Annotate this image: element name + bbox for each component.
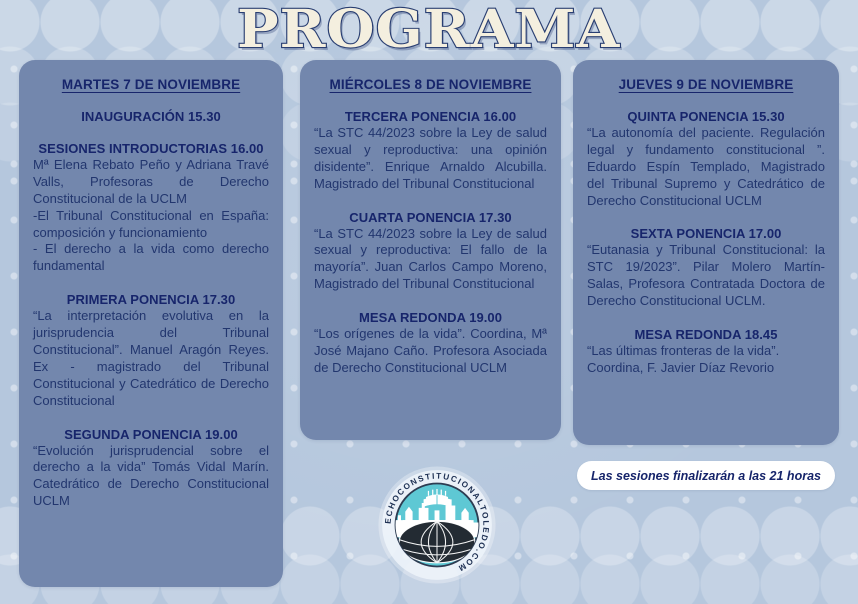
page-title: PROGRAMA xyxy=(237,0,620,60)
day-panel-jueves: JUEVES 9 DE NOVIEMBRE QUINTA PONENCIA 15… xyxy=(573,60,839,445)
session-title: SEGUNDA PONENCIA 19.00 xyxy=(33,427,269,442)
session-body: “Eutanasia y Tribunal Constitucional: la… xyxy=(587,242,825,310)
footer-note-text: Las sesiones finalizarán a las 21 horas xyxy=(591,469,821,483)
session-body: “La interpretación evolutiva en la juris… xyxy=(33,308,269,409)
session-block: SEGUNDA PONENCIA 19.00 “Evolución jurisp… xyxy=(33,427,269,511)
session-title: SESIONES INTRODUCTORIAS 16.00 xyxy=(33,141,269,156)
day-heading: MIÉRCOLES 8 DE NOVIEMBRE xyxy=(314,77,547,92)
session-title: QUINTA PONENCIA 15.30 xyxy=(587,109,825,124)
session-body: “Evolución jurisprudencial sobre el dere… xyxy=(33,443,269,511)
session-body: Mª Elena Rebato Peño y Adriana Travé Val… xyxy=(33,157,269,208)
session-block: PRIMERA PONENCIA 17.30 “La interpretació… xyxy=(33,292,269,409)
session-block: SEXTA PONENCIA 17.00 “Eutanasia y Tribun… xyxy=(587,226,825,310)
logo-badge-icon: WWW.DERECHOCONSTITUCIONALTOLEDO.COM xyxy=(376,464,498,586)
session-title: MESA REDONDA 18.45 xyxy=(587,327,825,342)
session-title: PRIMERA PONENCIA 17.30 xyxy=(33,292,269,307)
session-title: TERCERA PONENCIA 16.00 xyxy=(314,109,547,124)
session-title: MESA REDONDA 19.00 xyxy=(314,310,547,325)
session-block: INAUGURACIÓN 15.30 xyxy=(33,109,269,124)
footer-note-pill: Las sesiones finalizarán a las 21 horas xyxy=(577,461,835,490)
page-title-container: PROGRAMA xyxy=(0,0,858,58)
session-block: QUINTA PONENCIA 15.30 “La autonomía del … xyxy=(587,109,825,209)
session-body: “La autonomía del paciente. Regulación l… xyxy=(587,125,825,209)
session-block: TERCERA PONENCIA 16.00 “La STC 44/2023 s… xyxy=(314,109,547,193)
session-title: CUARTA PONENCIA 17.30 xyxy=(314,210,547,225)
session-title: SEXTA PONENCIA 17.00 xyxy=(587,226,825,241)
site-logo: WWW.DERECHOCONSTITUCIONALTOLEDO.COM xyxy=(376,464,498,586)
session-block: MESA REDONDA 18.45 “Las últimas frontera… xyxy=(587,327,825,377)
session-body: -El Tribunal Constitucional en España: c… xyxy=(33,208,269,242)
session-block: MESA REDONDA 19.00 “Los orígenes de la v… xyxy=(314,310,547,377)
day-heading: MARTES 7 DE NOVIEMBRE xyxy=(33,77,269,92)
session-body: “Las últimas fronteras de la vida”. Coor… xyxy=(587,343,825,377)
session-title: INAUGURACIÓN 15.30 xyxy=(33,109,269,124)
logo-globe-icon xyxy=(399,521,475,562)
session-block: SESIONES INTRODUCTORIAS 16.00 Mª Elena R… xyxy=(33,141,269,275)
day-panel-martes: MARTES 7 DE NOVIEMBRE INAUGURACIÓN 15.30… xyxy=(19,60,283,587)
session-body: “La STC 44/2023 sobre la Ley de salud se… xyxy=(314,226,547,294)
session-body: - El derecho a la vida como derecho fund… xyxy=(33,241,269,275)
session-body: “Los orígenes de la vida”. Coordina, Mª … xyxy=(314,326,547,377)
day-panel-miercoles: MIÉRCOLES 8 DE NOVIEMBRE TERCERA PONENCI… xyxy=(300,60,561,440)
session-body: “La STC 44/2023 sobre la Ley de salud se… xyxy=(314,125,547,193)
session-block: CUARTA PONENCIA 17.30 “La STC 44/2023 so… xyxy=(314,210,547,294)
day-heading: JUEVES 9 DE NOVIEMBRE xyxy=(587,77,825,92)
